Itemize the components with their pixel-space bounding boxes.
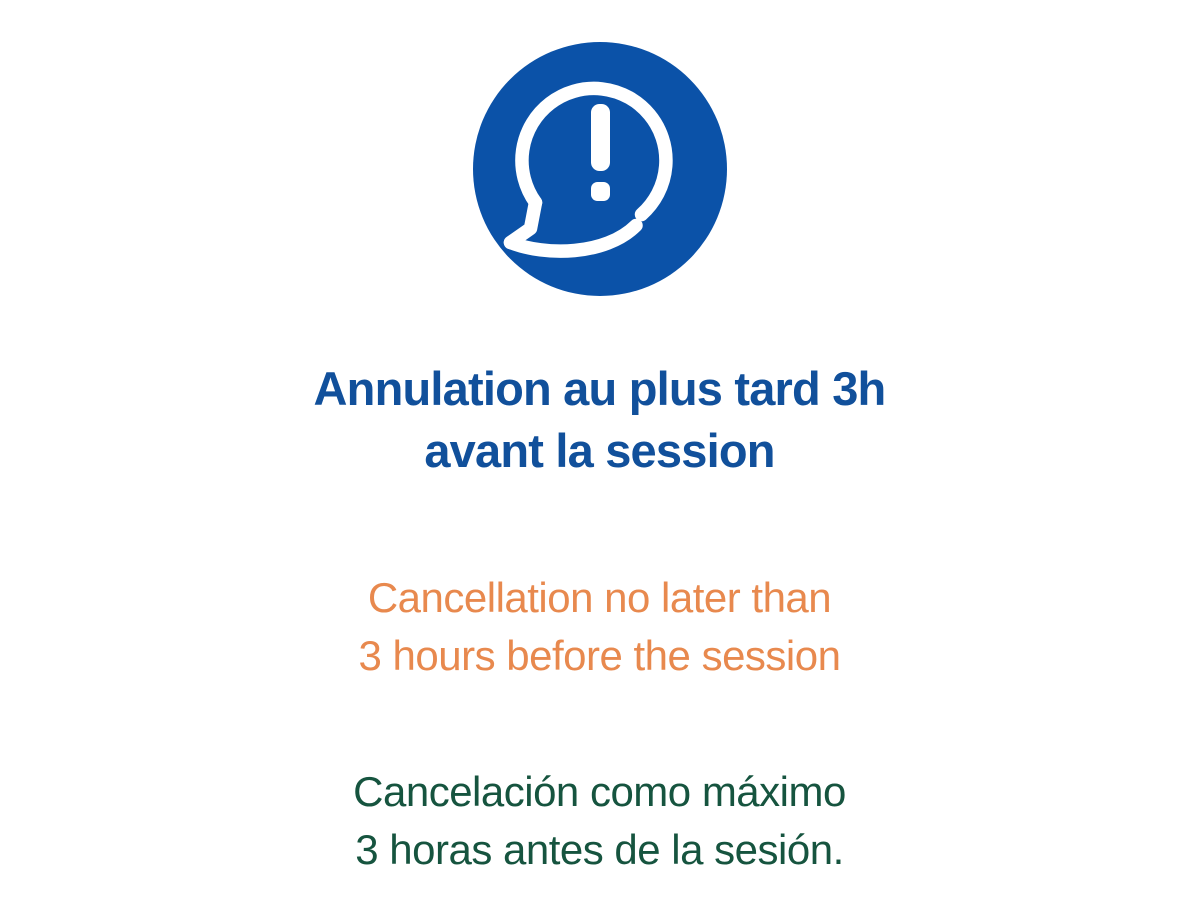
message-english-line-1: Cancellation no later than [0,569,1199,627]
message-spanish: Cancelación como máximo 3 horas antes de… [0,763,1199,879]
icon-exclamation-dot [591,182,610,201]
message-spanish-line-2: 3 horas antes de la sesión. [0,821,1199,879]
message-spanish-line-1: Cancelación como máximo [0,763,1199,821]
message-english-line-2: 3 hours before the session [0,627,1199,685]
cancellation-policy-poster: Annulation au plus tard 3h avant la sess… [0,0,1199,920]
message-french: Annulation au plus tard 3h avant la sess… [0,358,1199,482]
message-french-line-2: avant la session [0,420,1199,482]
icon-exclamation-bar [591,104,610,171]
message-english: Cancellation no later than 3 hours befor… [0,569,1199,685]
message-french-line-1: Annulation au plus tard 3h [0,358,1199,420]
message-stack: Annulation au plus tard 3h avant la sess… [0,358,1199,879]
alert-speech-bubble-icon [473,42,727,296]
